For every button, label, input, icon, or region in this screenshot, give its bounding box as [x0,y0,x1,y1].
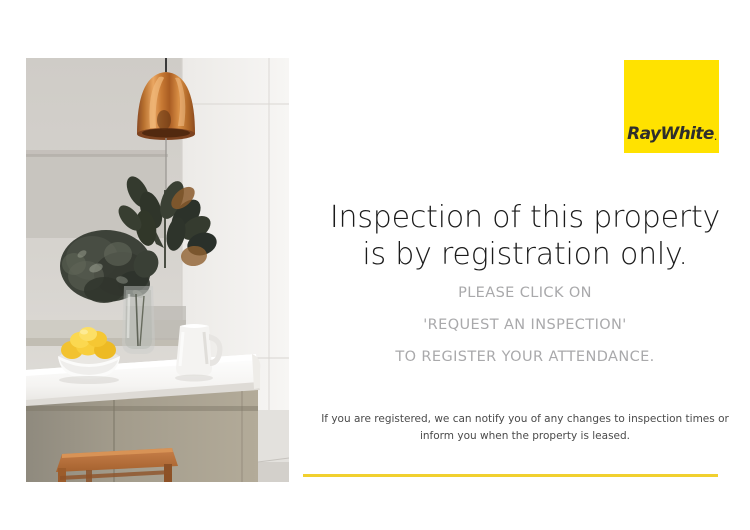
instruction-line-2: 'REQUEST AN INSPECTION' [300,318,750,333]
inspection-registration-banner: RayWhite. Inspection of this property is… [0,0,750,530]
headline-line-2: is by registration only. [300,237,750,274]
headline-line-1: Inspection of this property [300,200,750,237]
message-panel: RayWhite. Inspection of this property is… [300,0,750,530]
logo-text-white: White [660,124,713,144]
logo-text-ray: Ray [627,124,660,144]
raywhite-logo: RayWhite. [624,60,719,153]
kitchen-interior-photo [26,58,289,482]
yellow-divider [303,474,718,477]
kitchen-photo-illustration [26,58,289,482]
page-title: Inspection of this property is by regist… [300,200,750,274]
logo-trademark-mark: . [714,134,716,142]
instruction-line-1: PLEASE CLICK ON [300,286,750,301]
raywhite-wordmark: RayWhite. [627,126,716,143]
fine-print-note: If you are registered, we can notify you… [300,411,750,445]
instruction-block: PLEASE CLICK ON 'REQUEST AN INSPECTION' … [300,286,750,365]
instruction-line-3: TO REGISTER YOUR ATTENDANCE. [300,350,750,365]
